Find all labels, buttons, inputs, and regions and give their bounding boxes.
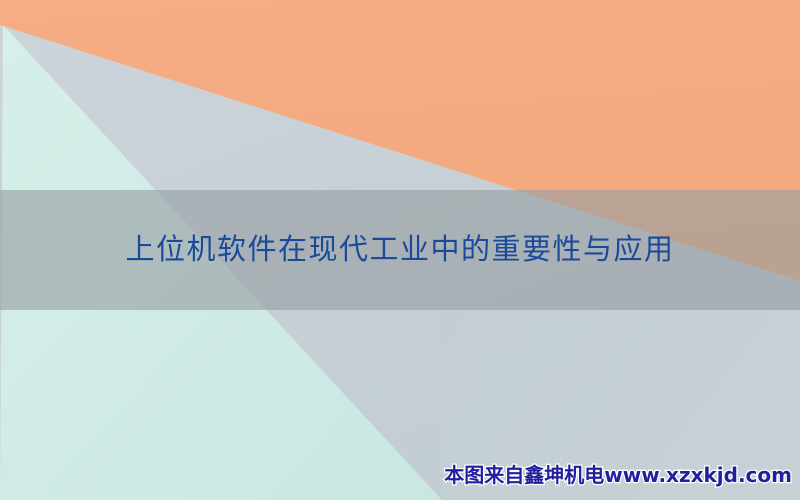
banner-canvas: 上位机软件在现代工业中的重要性与应用 本图来自鑫坤机电www.xzxkjd.co… bbox=[0, 0, 800, 500]
title-overlay-band: 上位机软件在现代工业中的重要性与应用 bbox=[0, 190, 800, 310]
source-watermark: 本图来自鑫坤机电www.xzxkjd.com bbox=[444, 459, 792, 488]
page-title: 上位机软件在现代工业中的重要性与应用 bbox=[125, 234, 674, 266]
